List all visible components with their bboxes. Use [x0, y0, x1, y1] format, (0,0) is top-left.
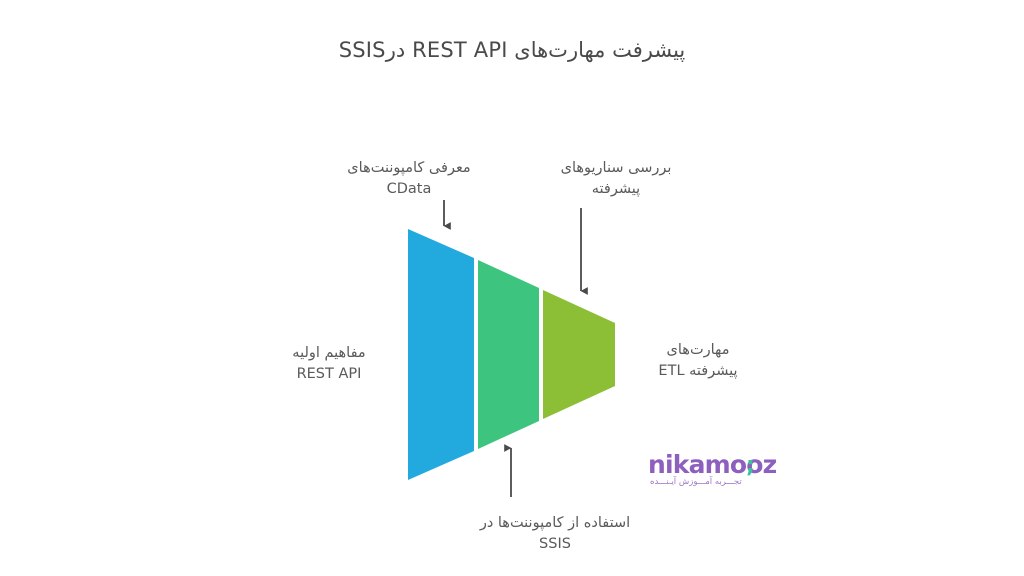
funnel-segment-cdata-components	[478, 260, 539, 449]
logo-accent-mark: ;	[746, 455, 755, 477]
slide-canvas: پیشرفت مهارت‌های REST API درSSIS معرفی ک…	[0, 0, 1024, 576]
logo-tagline: تجـــربه آمـــوزش آیـنـــده	[650, 477, 742, 487]
callout-use-components-ssis: استفاده از کامپوننت‌ها در SSIS	[430, 513, 680, 555]
funnel-segment-rest-api-basics	[408, 229, 474, 480]
funnel-diagram	[0, 0, 1024, 576]
callout-advanced-etl: مهارت‌های پیشرفته ETL	[628, 340, 768, 382]
callout-rest-api-basics: مفاهیم اولیه REST API	[258, 343, 400, 385]
logo-wordmark: nikamooz	[648, 452, 776, 477]
callout-cdata-intro: معرفی کامپوننت‌های CData	[326, 158, 492, 200]
nikamooz-logo: nikamooz ; تجـــربه آمـــوزش آیـنـــده	[648, 452, 758, 492]
funnel-segment-advanced-etl	[543, 290, 615, 419]
callout-advanced-scenarios: بررسی سناریوهای پیشرفته	[536, 158, 696, 200]
